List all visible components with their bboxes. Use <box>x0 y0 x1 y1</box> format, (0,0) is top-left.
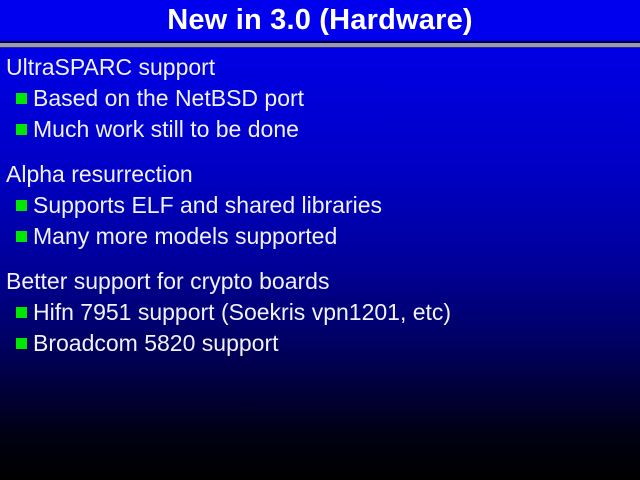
content-group: UltraSPARC support Based on the NetBSD p… <box>0 52 640 145</box>
square-bullet-icon <box>16 307 27 318</box>
bullet-item: Many more models supported <box>0 221 640 252</box>
group-heading: Better support for crypto boards <box>0 266 640 297</box>
bullet-label: Supports ELF and shared libraries <box>33 190 382 221</box>
content-group: Alpha resurrection Supports ELF and shar… <box>0 159 640 252</box>
bullet-label: Hifn 7951 support (Soekris vpn1201, etc) <box>33 297 451 328</box>
slide-title: New in 3.0 (Hardware) <box>0 0 640 41</box>
bullet-item: Based on the NetBSD port <box>0 83 640 114</box>
title-rule-shadow <box>0 47 640 48</box>
square-bullet-icon <box>16 338 27 349</box>
bullet-label: Much work still to be done <box>33 114 299 145</box>
bullet-label: Broadcom 5820 support <box>33 328 279 359</box>
slide-body: UltraSPARC support Based on the NetBSD p… <box>0 52 640 359</box>
square-bullet-icon <box>16 200 27 211</box>
bullet-item: Much work still to be done <box>0 114 640 145</box>
bullet-label: Based on the NetBSD port <box>33 83 304 114</box>
group-heading: Alpha resurrection <box>0 159 640 190</box>
bullet-label: Many more models supported <box>33 221 337 252</box>
group-heading: UltraSPARC support <box>0 52 640 83</box>
bullet-item: Supports ELF and shared libraries <box>0 190 640 221</box>
bullet-item: Hifn 7951 support (Soekris vpn1201, etc) <box>0 297 640 328</box>
square-bullet-icon <box>16 124 27 135</box>
square-bullet-icon <box>16 93 27 104</box>
slide-title-bar: New in 3.0 (Hardware) <box>0 0 640 41</box>
square-bullet-icon <box>16 231 27 242</box>
presentation-slide: New in 3.0 (Hardware) UltraSPARC support… <box>0 0 640 480</box>
bullet-item: Broadcom 5820 support <box>0 328 640 359</box>
content-group: Better support for crypto boards Hifn 79… <box>0 266 640 359</box>
